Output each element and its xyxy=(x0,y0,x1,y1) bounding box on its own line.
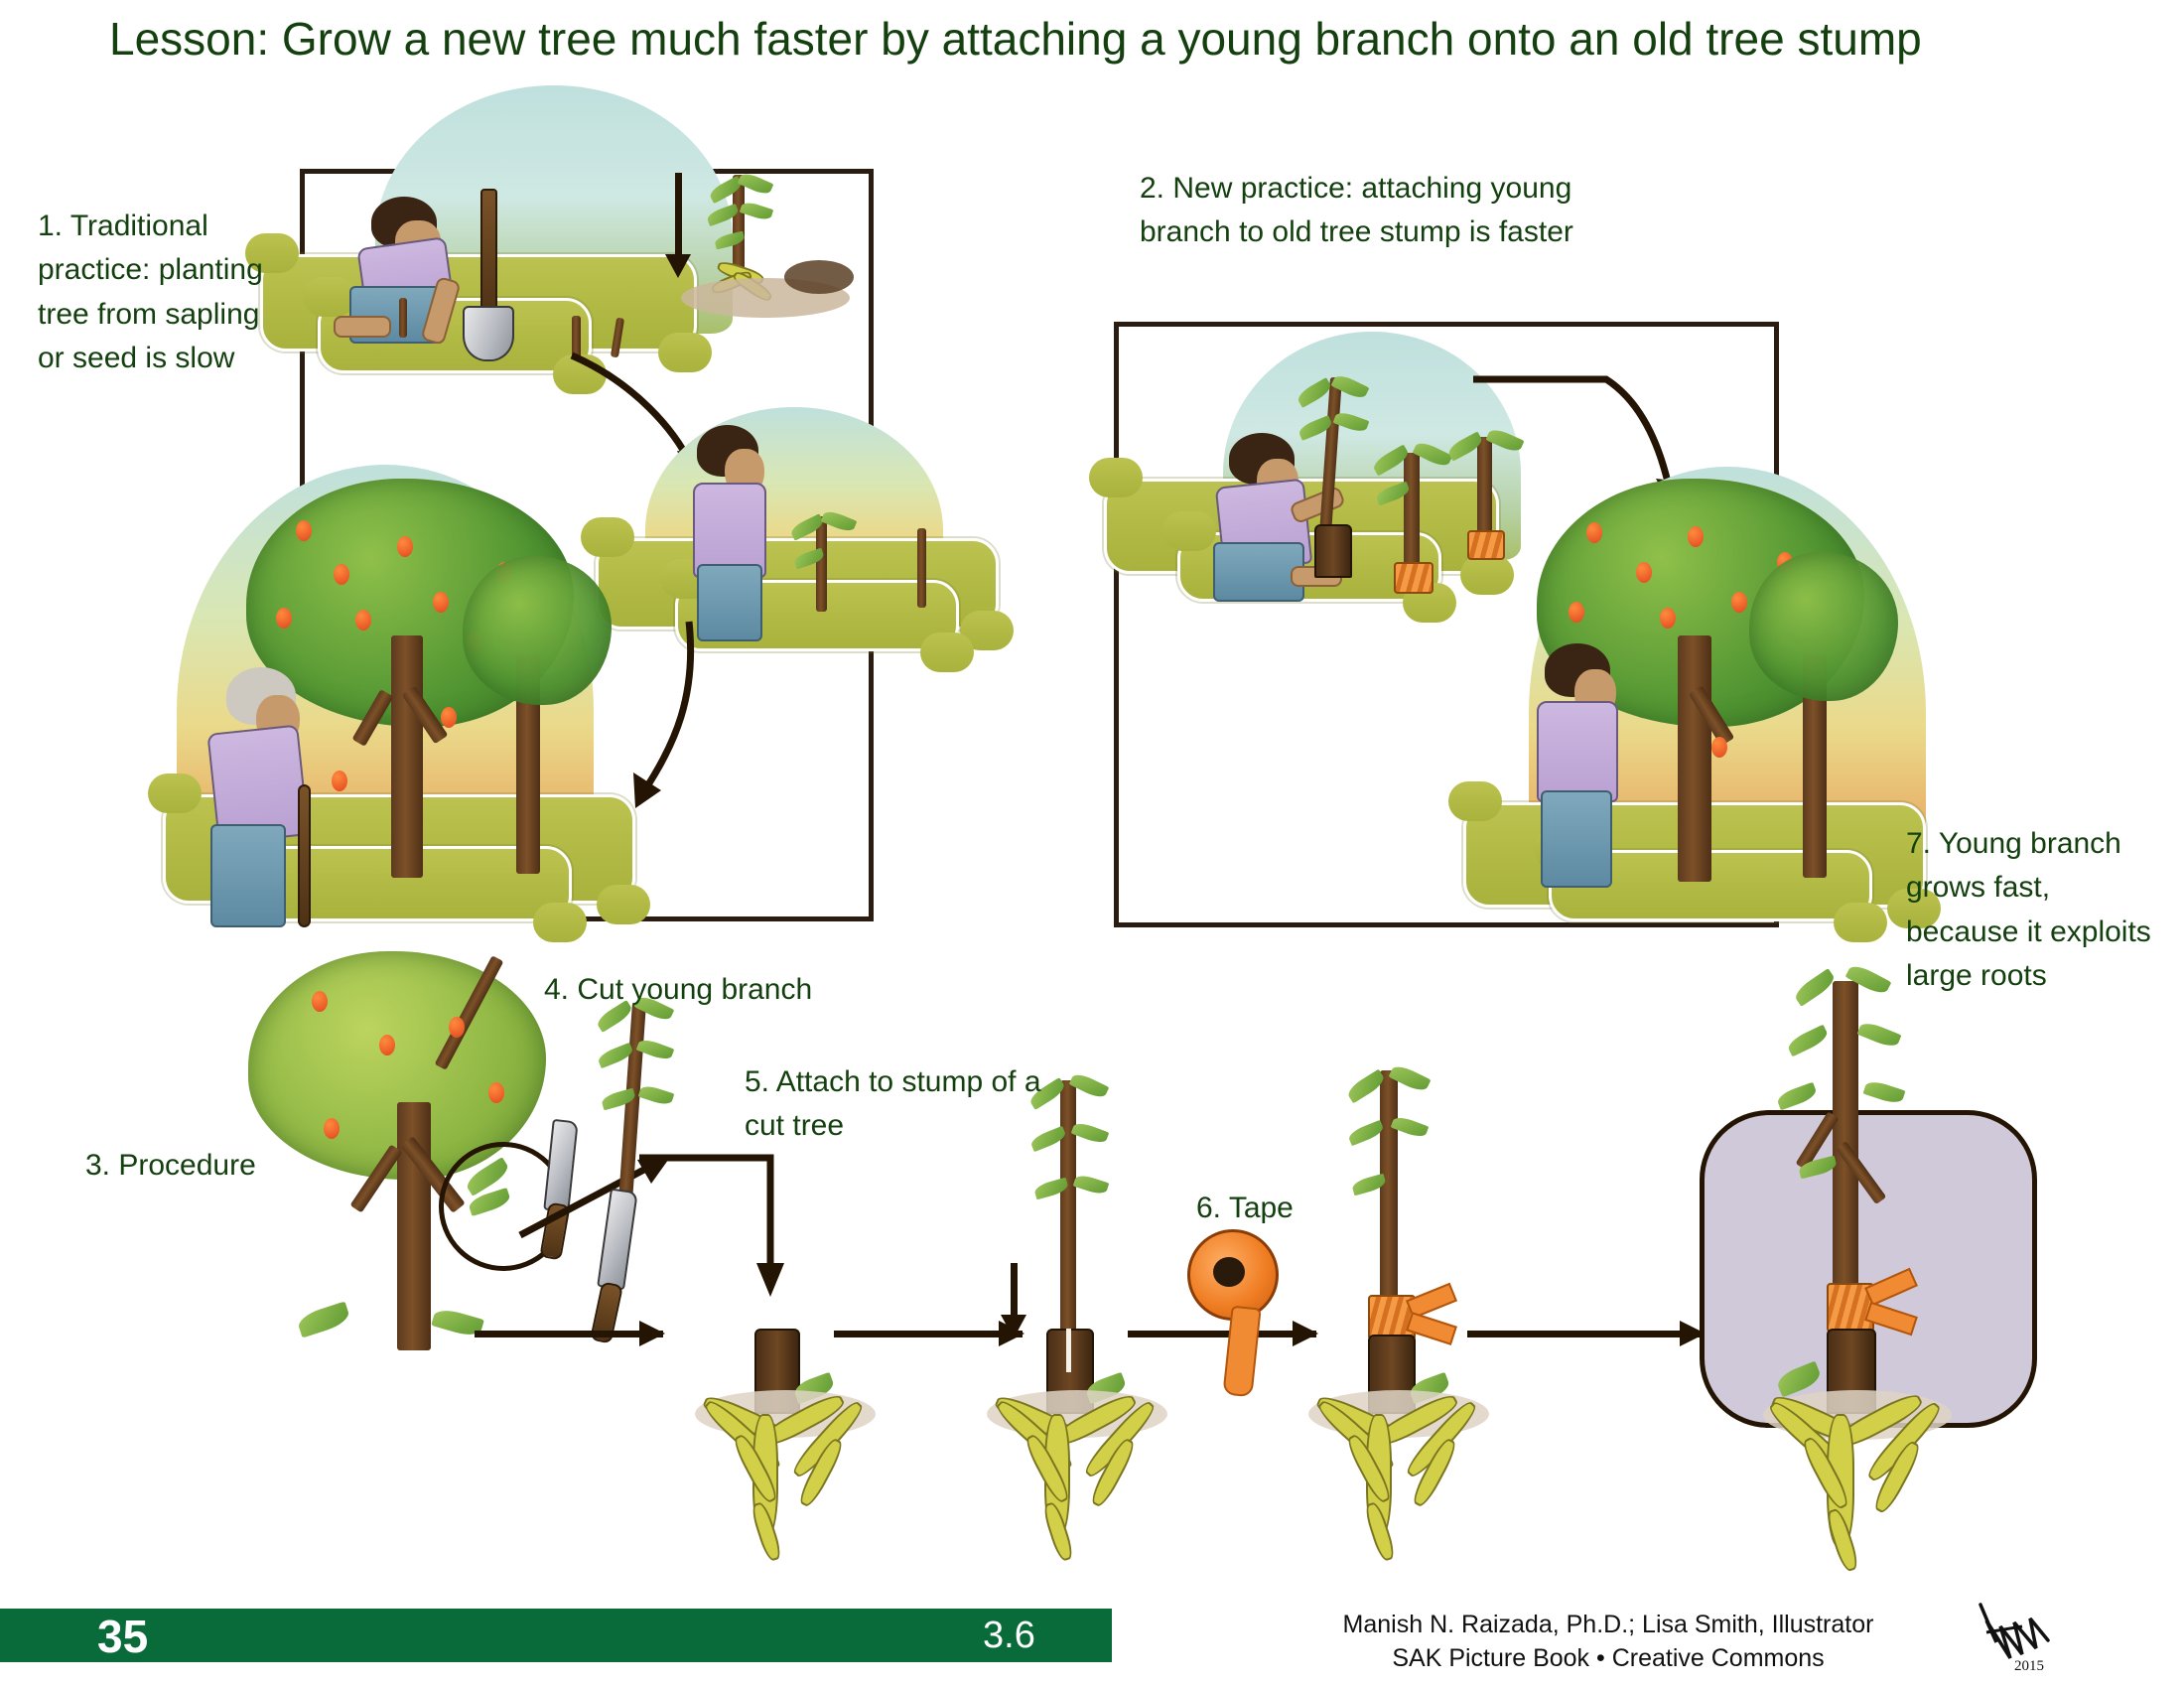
right-arrow-icon-1 xyxy=(475,1331,663,1337)
connector-path xyxy=(635,1152,794,1331)
label-7-young-branch-grows-fast: 7. Young branch grows fast, because it e… xyxy=(1906,822,2154,999)
down-arrow-icon xyxy=(675,173,682,258)
label-1-traditional-practice: 1. Traditional practice: planting tree f… xyxy=(38,205,286,381)
label-4-cut-young-branch: 4. Cut young branch xyxy=(544,968,872,1012)
right-arrow-icon-4 xyxy=(1467,1331,1704,1337)
poster-page: Lesson: Grow a new tree much faster by a… xyxy=(0,0,2184,1688)
credit-line-1: Manish N. Raizada, Ph.D.; Lisa Smith, Il… xyxy=(1291,1609,1926,1642)
down-arrow-icon-2 xyxy=(1011,1263,1018,1319)
right-arrow-icon-3 xyxy=(1128,1331,1316,1337)
label-5-attach-to-stump: 5. Attach to stump of a cut tree xyxy=(745,1060,1052,1149)
label-2-new-practice: 2. New practice: attaching young branch … xyxy=(1140,167,1656,255)
right-arrow-icon-2 xyxy=(834,1331,1023,1337)
label-3-procedure: 3. Procedure xyxy=(85,1144,314,1188)
label-6-tape: 6. Tape xyxy=(1196,1187,1335,1230)
page-number: 35 xyxy=(97,1610,148,1663)
credit-line-2: SAK Picture Book • Creative Commons xyxy=(1291,1642,1926,1676)
section-number: 3.6 xyxy=(983,1615,1035,1657)
illustrator-signature: 2015 xyxy=(1971,1597,2090,1676)
page-title: Lesson: Grow a new tree much faster by a… xyxy=(109,14,2134,65)
credits: Manish N. Raizada, Ph.D.; Lisa Smith, Il… xyxy=(1291,1609,1926,1676)
footer-bar xyxy=(0,1609,1112,1662)
svg-text:2015: 2015 xyxy=(2014,1658,2044,1674)
